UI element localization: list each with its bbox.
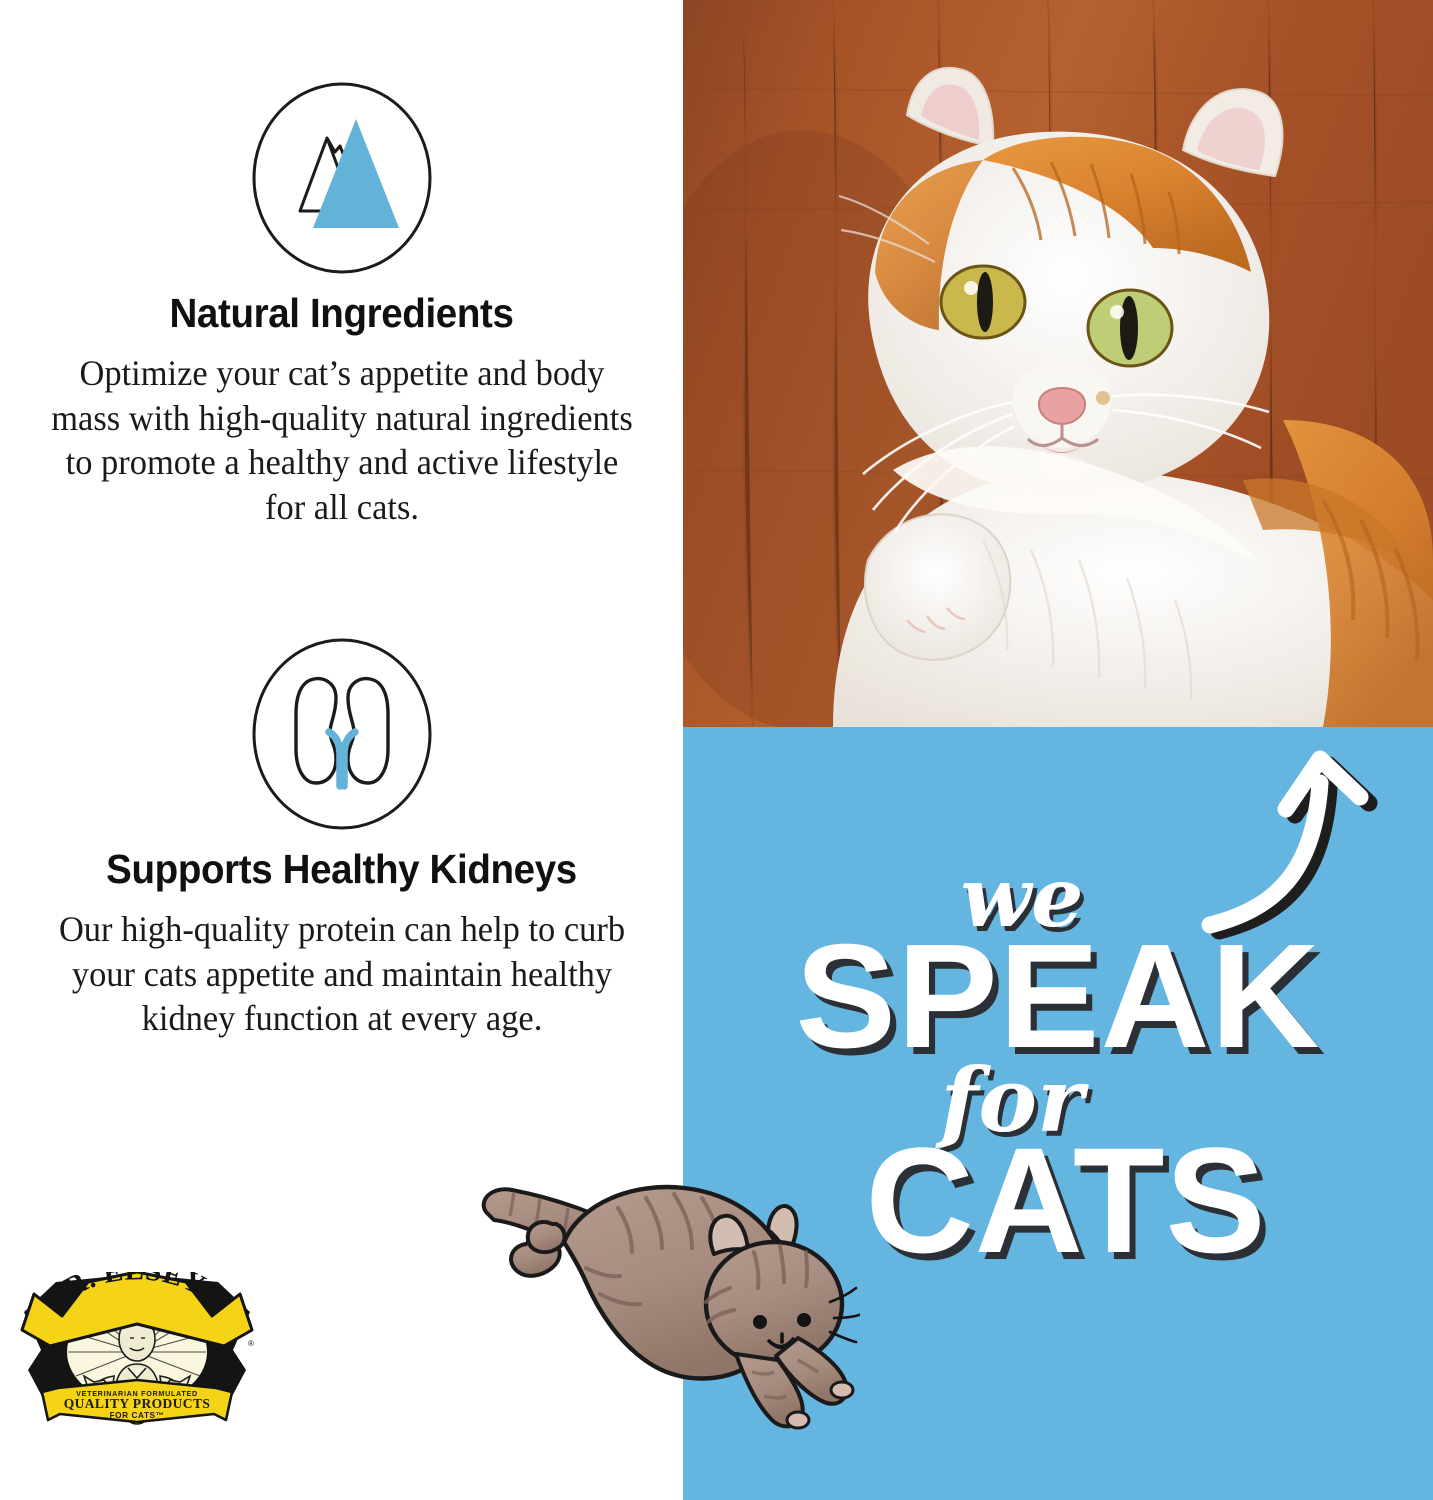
cat-photo-illustration [683,0,1433,727]
logo-banner-line-3: FOR CATS™ [110,1411,165,1420]
dr-elseys-logo-svg: DR. ELSEY'S VETERINARIAN FORMULATED QUAL… [18,1272,256,1430]
slogan-word-we: we [961,850,1084,946]
slogan-word-speak: SPEAK [676,933,1433,1060]
feature-block-natural-ingredients: Natural Ingredients Optimize your cat’s … [0,78,683,530]
mountain-icon [244,80,440,276]
kidneys-icon-wrapper [0,634,683,834]
feature-description: Our high-quality protein can help to cur… [41,907,642,1041]
kidneys-icon [244,636,440,832]
feature-title: Supports Healthy Kidneys [20,848,662,891]
orange-white-cat-photo [683,0,1433,727]
curved-up-arrow-icon [1188,687,1428,947]
feature-title: Natural Ingredients [20,292,662,335]
registered-trademark-mark: ® [248,1339,254,1348]
dr-elseys-logo: DR. ELSEY'S VETERINARIAN FORMULATED QUAL… [18,1272,256,1430]
feature-block-healthy-kidneys: Supports Healthy Kidneys Our high-qualit… [0,634,683,1041]
feature-description: Optimize your cat’s appetite and body ma… [41,351,642,530]
mountain-icon-wrapper [0,78,683,278]
slogan-word-for: for [591,1056,1433,1144]
logo-banner-line-2: QUALITY PRODUCTS [64,1396,211,1411]
leaping-tabby-cat-illustration [468,1168,860,1460]
